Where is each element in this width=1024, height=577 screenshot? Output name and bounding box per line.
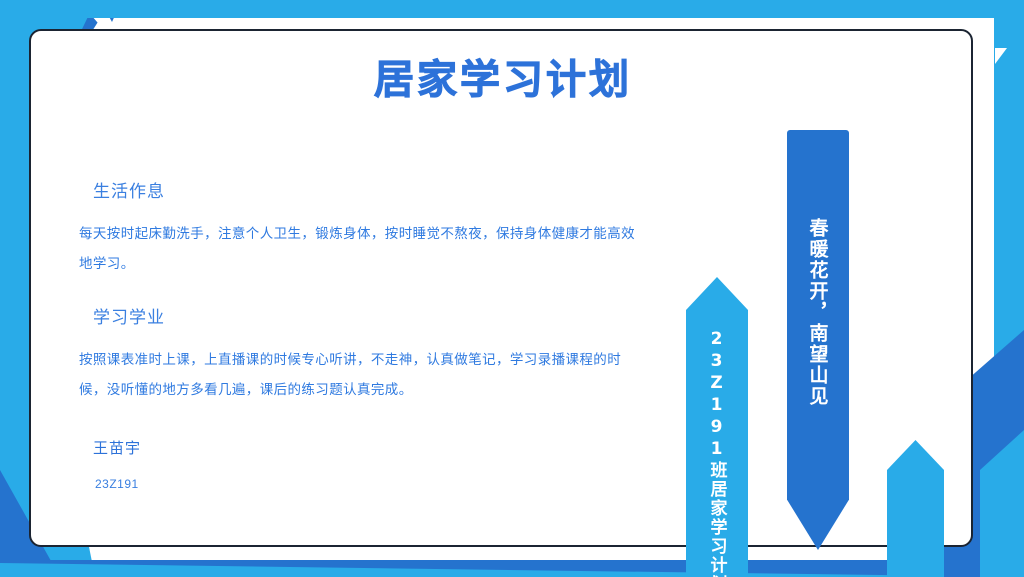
bg-top-band [0, 0, 1024, 18]
author-id: 23Z191 [95, 475, 639, 493]
section-life-routine: 生活作息 每天按时起床勤洗手，注意个人卫生，锻炼身体，按时睡觉不熬夜，保持身体健… [79, 179, 639, 279]
banner-dark-label: 春暖花开，南望山见 [805, 218, 832, 550]
slide-canvas: 居家学习计划 生活作息 每天按时起床勤洗手，注意个人卫生，锻炼身体，按时睡觉不熬… [0, 0, 1024, 577]
author-block: 王苗宇 23Z191 [79, 437, 639, 493]
banner-slogan: 春暖花开，南望山见 [787, 130, 849, 550]
section-text-study: 按照课表准时上课，上直播课的时候专心听讲，不走神，认真做笔记，学习录播课程的时候… [79, 345, 639, 405]
banner-light-label: 23Z191班居家学习计划 [705, 329, 730, 577]
content-body: 生活作息 每天按时起床勤洗手，注意个人卫生，锻炼身体，按时睡觉不熬夜，保持身体健… [79, 179, 639, 493]
section-heading-life-routine: 生活作息 [93, 179, 639, 205]
page-title: 居家学习计划 [31, 55, 975, 105]
banner-class-plan: 23Z191班居家学习计划 [686, 277, 748, 577]
section-study: 学习学业 按照课表准时上课，上直播课的时候专心听讲，不走神，认真做笔记，学习录播… [79, 305, 639, 405]
section-text-life-routine: 每天按时起床勤洗手，注意个人卫生，锻炼身体，按时睡觉不熬夜，保持身体健康才能高效… [79, 219, 639, 279]
section-heading-study: 学习学业 [93, 305, 639, 331]
author-name: 王苗宇 [93, 437, 639, 461]
